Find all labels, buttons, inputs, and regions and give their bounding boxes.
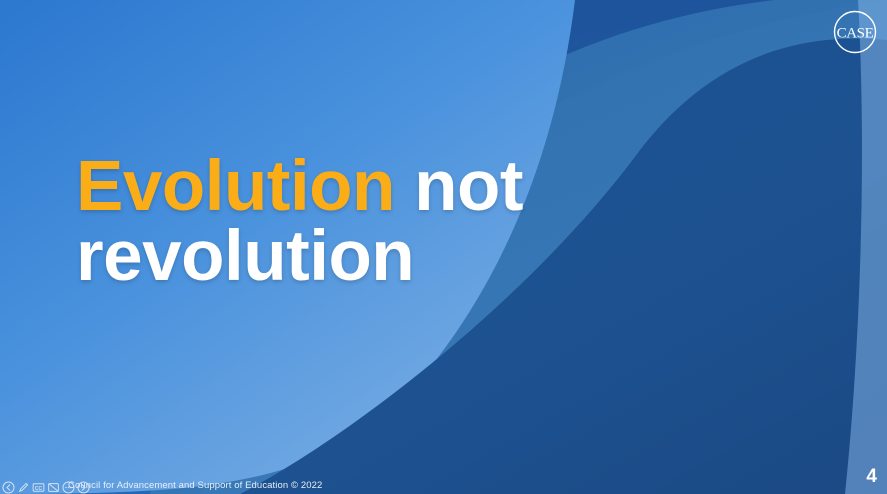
- case-logo: CASE: [831, 8, 879, 56]
- next-slide-button[interactable]: [77, 481, 90, 494]
- pen-slash-icon: [47, 481, 60, 494]
- more-options-button[interactable]: [62, 481, 75, 494]
- pen-icon: [17, 481, 30, 494]
- back-arrow-icon: [2, 481, 15, 494]
- slide-title-line-2: revolution: [76, 222, 676, 292]
- ellipsis-icon: [62, 481, 75, 494]
- presentation-slide: CASE Evolution not revolution Council fo…: [0, 0, 887, 494]
- presenter-toolbar: CC: [0, 480, 90, 494]
- captions-button[interactable]: CC: [32, 481, 45, 494]
- slide-title-line-1: Evolution not: [76, 152, 676, 222]
- slide-title-accent-word: Evolution: [76, 147, 395, 226]
- slide-title: Evolution not revolution: [76, 152, 676, 293]
- slide-number: 4: [866, 466, 877, 488]
- svg-text:CC: CC: [35, 485, 43, 491]
- laser-off-button[interactable]: [47, 481, 60, 494]
- forward-arrow-icon: [77, 481, 90, 494]
- case-logo-text: CASE: [837, 26, 874, 42]
- pen-tool-button[interactable]: [17, 481, 30, 494]
- cc-icon: CC: [32, 481, 45, 494]
- previous-slide-button[interactable]: [2, 481, 15, 494]
- slide-title-plain-word: not: [414, 147, 523, 226]
- footer-copyright-text: Council for Advancement and Support of E…: [68, 480, 322, 491]
